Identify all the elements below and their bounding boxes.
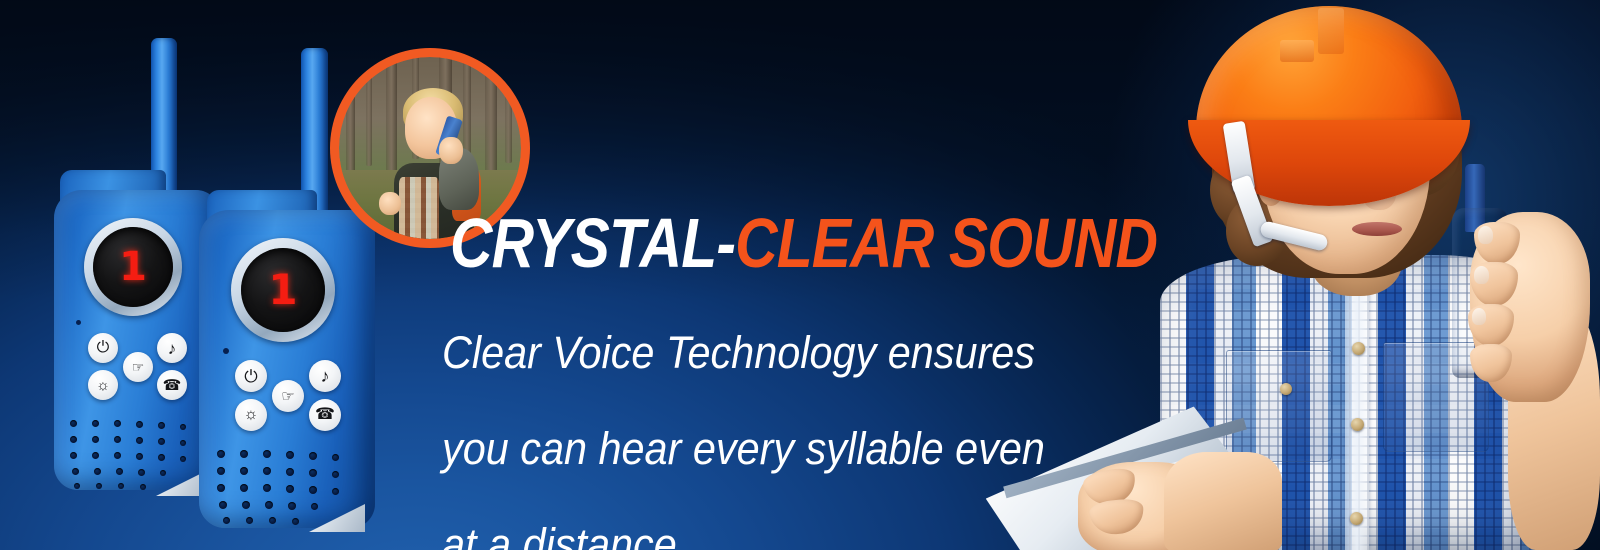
channel-button-right[interactable]: ☞ xyxy=(272,380,304,412)
subheadline-line-1: Clear Voice Technology ensures xyxy=(442,329,1045,377)
mic-hole-right xyxy=(223,348,229,354)
call-button-right[interactable]: ☎ xyxy=(309,399,341,431)
power-button-left[interactable]: ⏻ xyxy=(88,333,118,363)
speaker-grille-left xyxy=(68,418,204,492)
headline-white: CRYSTAL- xyxy=(450,204,735,282)
speaker-grille-right xyxy=(215,448,359,528)
hard-hat-vent xyxy=(1280,40,1314,62)
shirt-button-3 xyxy=(1350,512,1363,525)
headline: CRYSTAL-CLEAR SOUND xyxy=(450,203,1157,283)
pocket-button-left xyxy=(1280,383,1292,395)
power-button-right[interactable]: ⏻ xyxy=(235,360,267,392)
subheadline: Clear Voice Technology ensures you can h… xyxy=(442,281,1045,550)
fingernail-ring xyxy=(1472,308,1486,325)
display-screen-left: 1 xyxy=(93,227,173,307)
mic-hole-left xyxy=(76,320,81,325)
channel-digit-right: 1 xyxy=(268,269,297,311)
subheadline-line-2: you can hear every syllable even xyxy=(442,425,1045,473)
melody-button-left[interactable]: ♪ xyxy=(157,333,187,363)
shirt-button-1 xyxy=(1352,342,1365,355)
light-button-right[interactable]: ☼ xyxy=(235,399,267,431)
lower-forearm xyxy=(1164,452,1282,550)
promo-banner: 1 ⏻ ☼ ☞ ♪ ☎ xyxy=(0,0,1600,550)
channel-button-left[interactable]: ☞ xyxy=(123,352,153,382)
shirt-pocket-left xyxy=(1226,350,1332,462)
mouth xyxy=(1352,222,1402,236)
fingernail-middle xyxy=(1474,266,1489,284)
subheadline-line-3: at a distance. xyxy=(442,521,1045,550)
call-button-left[interactable]: ☎ xyxy=(157,370,187,400)
hard-hat-ridge xyxy=(1318,8,1344,54)
melody-button-right[interactable]: ♪ xyxy=(309,360,341,392)
shirt-placket xyxy=(1345,258,1369,550)
fingernail-index xyxy=(1478,226,1493,244)
shirt-button-2 xyxy=(1351,418,1364,431)
display-screen-right: 1 xyxy=(241,248,325,332)
model-boy xyxy=(1140,0,1600,550)
light-button-left[interactable]: ☼ xyxy=(88,370,118,400)
channel-digit-left: 1 xyxy=(119,247,147,287)
product-walkie-talkie-pair: 1 ⏻ ☼ ☞ ♪ ☎ xyxy=(0,0,400,550)
headline-orange: CLEAR SOUND xyxy=(735,204,1157,282)
